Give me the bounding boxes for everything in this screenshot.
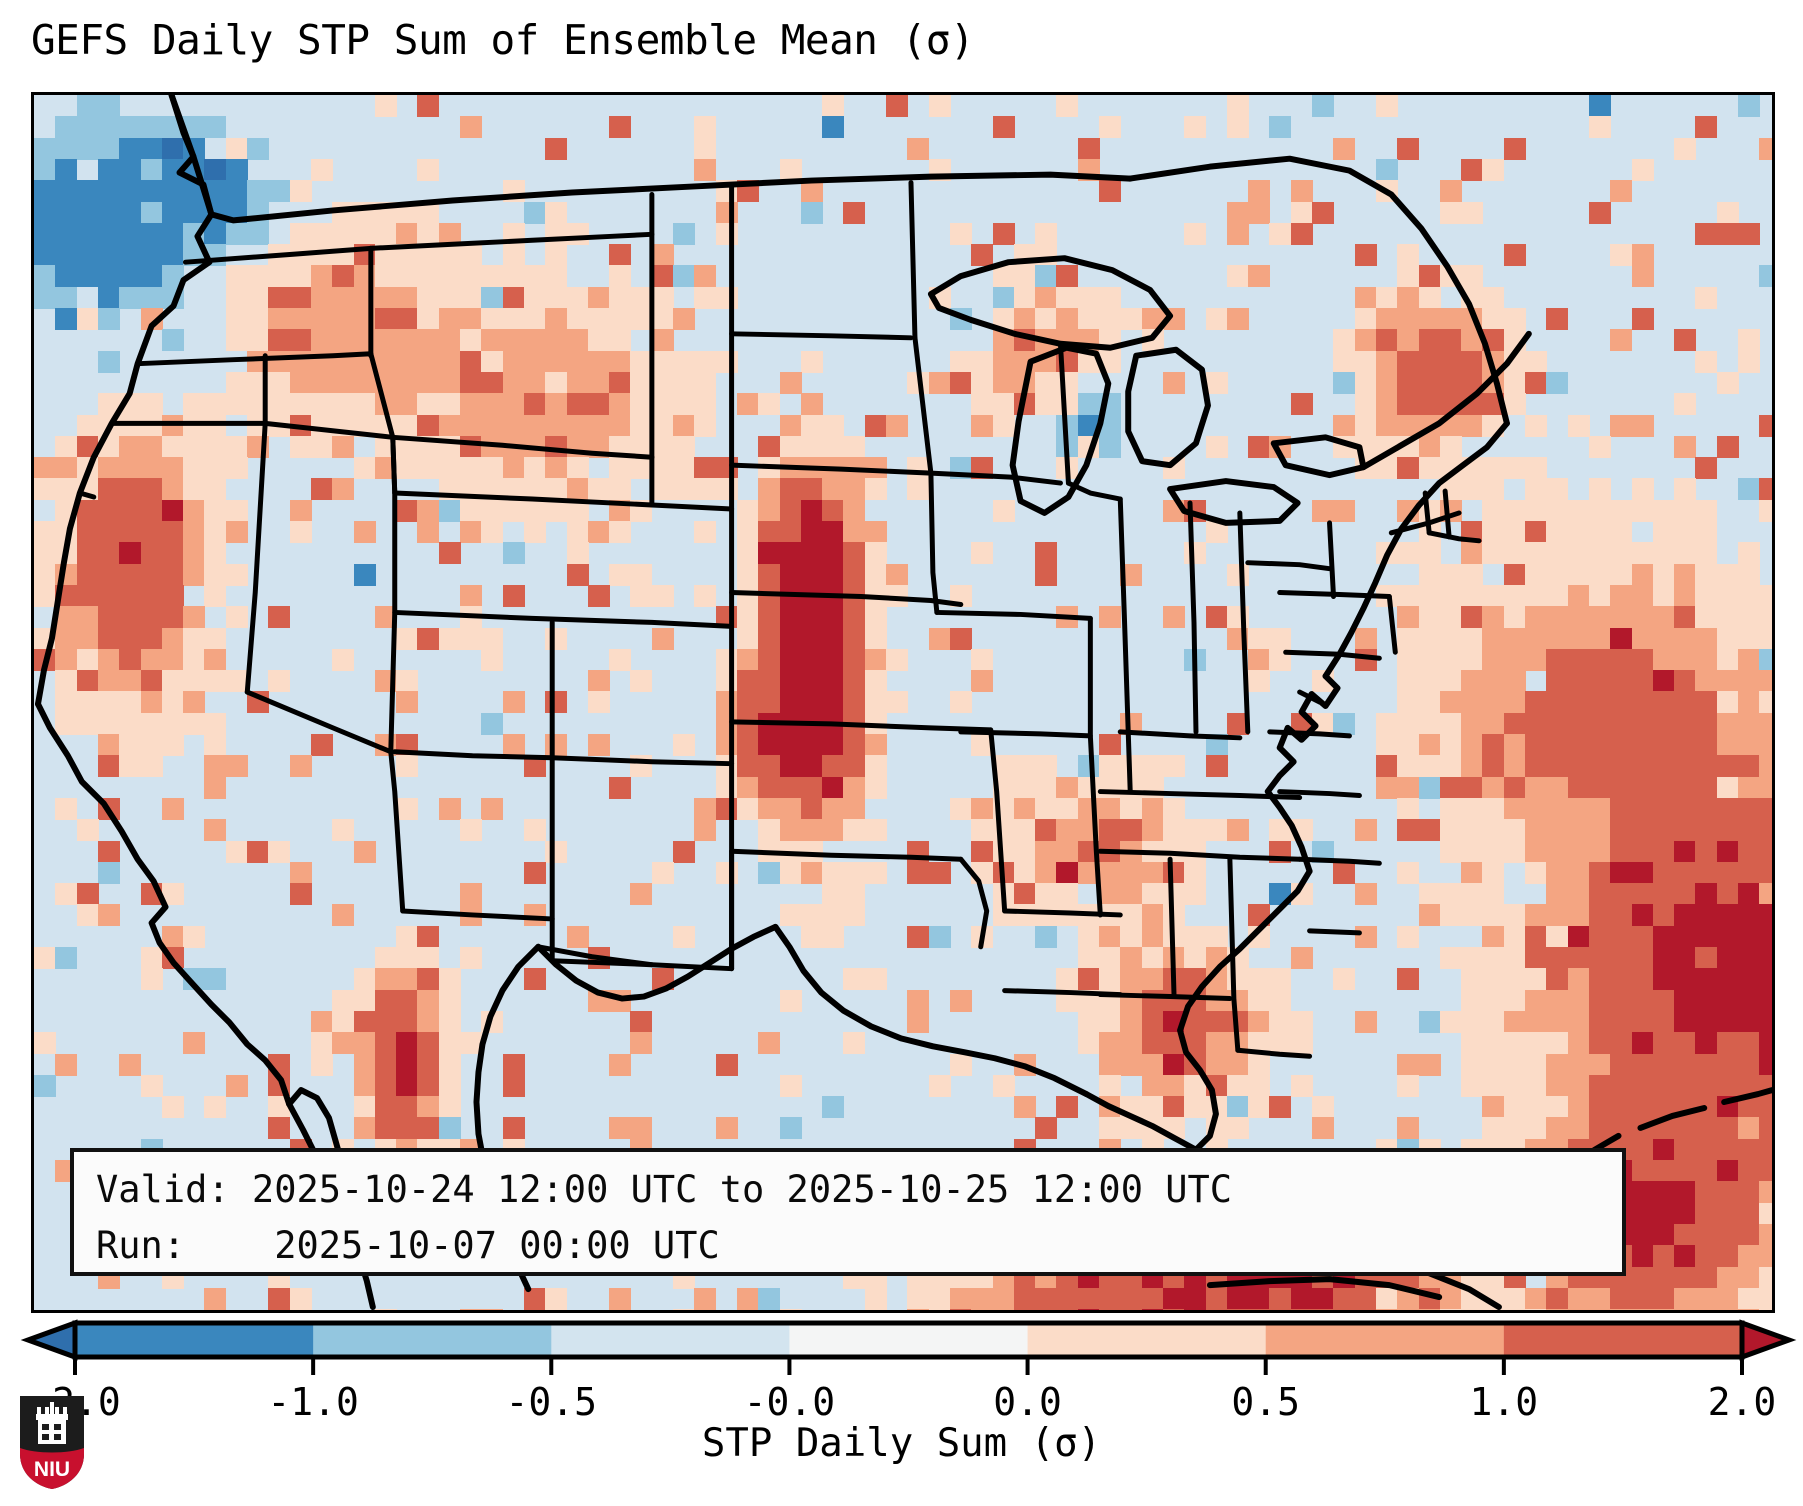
- colorbar-axis-label: STP Daily Sum (σ): [0, 1421, 1803, 1466]
- niu-logo-text: NIU: [34, 1458, 70, 1481]
- colorbar-tick-label: 1.0: [1470, 1380, 1539, 1423]
- map-geography-layer: [34, 95, 1772, 1310]
- colorbar-svg: -2.0-1.0-0.5-0.00.00.51.02.0: [0, 1313, 1803, 1423]
- colorbar-ticks: [75, 1357, 1742, 1375]
- run-time-line: Run: 2025-10-07 00:00 UTC: [96, 1218, 1622, 1274]
- valid-time-line: Valid: 2025-10-24 12:00 UTC to 2025-10-2…: [96, 1162, 1622, 1218]
- page-title: GEFS Daily STP Sum of Ensemble Mean (σ): [31, 16, 1775, 64]
- colorbar-segment: [1266, 1323, 1505, 1357]
- colorbar-extend-min: [28, 1323, 75, 1357]
- colorbar-tick-label: 2.0: [1708, 1380, 1777, 1423]
- colorbar-segment: [551, 1323, 790, 1357]
- state-boundaries: [80, 183, 1479, 1057]
- colorbar-segments: [28, 1323, 1789, 1357]
- colorbar-segment: [75, 1323, 314, 1357]
- colorbar-tick-labels: -2.0-1.0-0.5-0.00.00.51.02.0: [29, 1380, 1776, 1423]
- colorbar-extend-max: [1742, 1323, 1789, 1357]
- colorbar-segment: [1504, 1323, 1743, 1357]
- map-plot-area: Valid: 2025-10-24 12:00 UTC to 2025-10-2…: [31, 92, 1775, 1313]
- colorbar-segment: [789, 1323, 1028, 1357]
- colorbar-tick-label: -0.5: [506, 1380, 598, 1423]
- niu-logo: NIU: [16, 1392, 88, 1492]
- colorbar-tick-label: 0.5: [1231, 1380, 1300, 1423]
- colorbar: -2.0-1.0-0.5-0.00.00.51.02.0 STP Daily S…: [0, 1313, 1803, 1506]
- coastlines-and-borders: [38, 95, 1772, 1307]
- colorbar-tick-label: -0.0: [744, 1380, 836, 1423]
- colorbar-segment: [1028, 1323, 1267, 1357]
- valid-run-info-box: Valid: 2025-10-24 12:00 UTC to 2025-10-2…: [70, 1148, 1626, 1276]
- colorbar-tick-label: -1.0: [267, 1380, 359, 1423]
- colorbar-segment: [313, 1323, 552, 1357]
- colorbar-tick-label: 0.0: [993, 1380, 1062, 1423]
